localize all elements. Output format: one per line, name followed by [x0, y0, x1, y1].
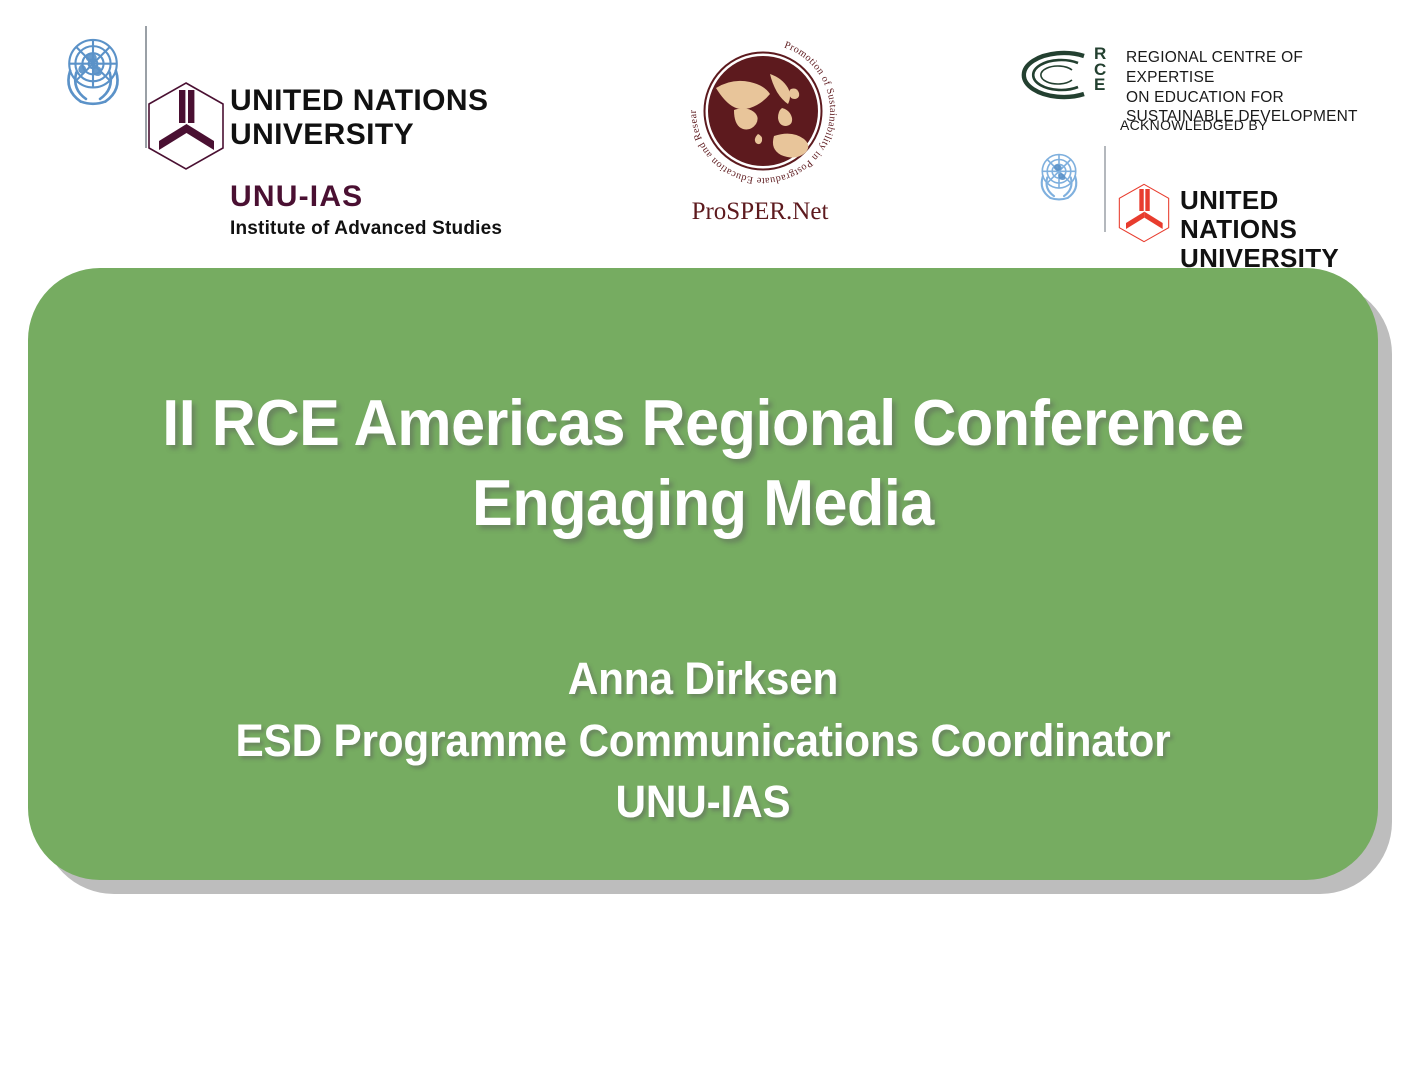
un-emblem-icon	[1028, 144, 1090, 206]
unu-hexagon-icon	[144, 80, 228, 172]
unu-hexagon-icon	[1116, 182, 1172, 244]
title-panel-content: II RCE Americas Regional Conference Enga…	[28, 268, 1378, 880]
prosper-net-wordmark: ProSPER.Net	[660, 198, 860, 226]
rce-logo: R C E REGIONAL CENTRE OF EXPERTISE ON ED…	[1012, 40, 1362, 240]
acknowledged-by-label: ACKNOWLEDGED BY	[1120, 117, 1268, 133]
rce-oval-icon	[1012, 46, 1104, 104]
unu-logo-secondary: UNITED NATIONS UNIVERSITY	[1020, 144, 1362, 240]
unu-wordmark: UNITED NATIONS UNIVERSITY	[230, 84, 488, 151]
unu-ias-title: UNU-IAS	[230, 180, 363, 214]
slide-title: II RCE Americas Regional Conference Enga…	[69, 383, 1338, 543]
un-emblem-icon	[49, 25, 137, 113]
unu-ias-subtitle: Institute of Advanced Studies	[230, 218, 502, 240]
unu-ias-logo: UNITED NATIONS UNIVERSITY UNU-IAS Instit…	[44, 22, 514, 242]
prosper-net-logo: Promotion of Sustainability in Postgradu…	[660, 26, 860, 241]
prosper-net-globe-icon: Promotion of Sustainability in Postgradu…	[678, 26, 848, 196]
slide-presenter: Anna Dirksen ESD Programme Communication…	[69, 648, 1338, 833]
logo-divider	[1104, 146, 1106, 232]
rce-description: REGIONAL CENTRE OF EXPERTISE ON EDUCATIO…	[1126, 48, 1362, 127]
logo-band: UNITED NATIONS UNIVERSITY UNU-IAS Instit…	[0, 0, 1428, 258]
rce-letters: R C E	[1094, 46, 1106, 93]
title-panel: II RCE Americas Regional Conference Enga…	[28, 268, 1378, 880]
unu-wordmark: UNITED NATIONS UNIVERSITY	[1180, 186, 1362, 273]
presentation-slide: UNITED NATIONS UNIVERSITY UNU-IAS Instit…	[0, 0, 1428, 1070]
